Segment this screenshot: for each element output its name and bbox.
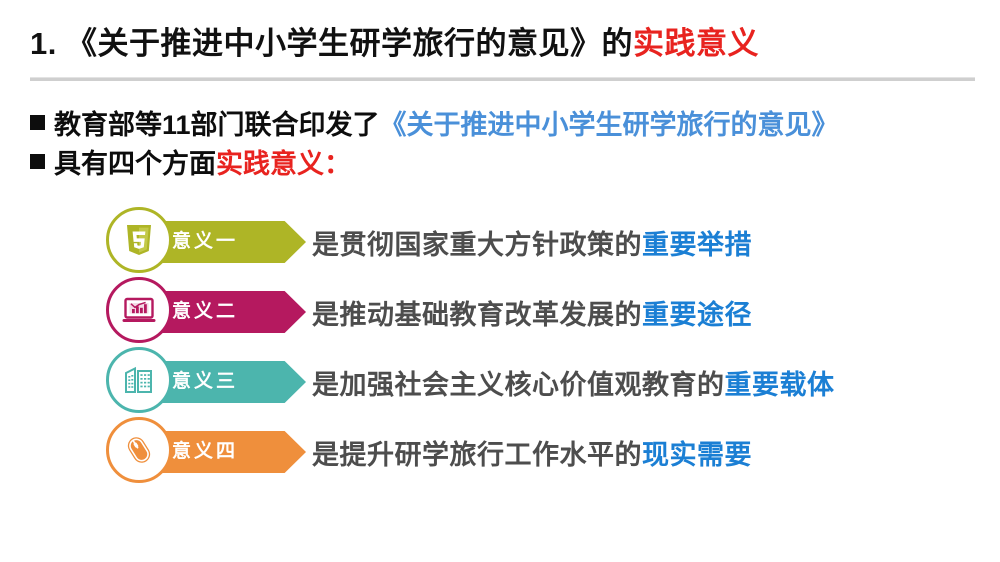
bullet-text-emphasis: 《关于推进中小学生研学旅行的意见》 [380,103,839,142]
list-item[interactable]: 意义二 是推动基础教育改革发展的重要途径 [106,277,835,347]
bullet-item: 具有四个方面实践意义： [30,142,980,181]
page-title: 1. 《关于推进中小学生研学旅行的意见》的实践意义 [30,18,975,63]
chevron-badge-group: 意义一 [106,207,306,277]
chevron-label: 意义二 [172,291,238,333]
list-item-text-plain: 是推动基础教育改革发展的 [312,300,642,330]
icon-badge [106,277,172,343]
list-item[interactable]: 意义四 是提升研学旅行工作水平的现实需要 [106,417,835,487]
list-item-text-highlight: 重要举措 [642,230,752,260]
chevron-badge-group: 意义三 [106,347,306,417]
list-item-text-highlight: 现实需要 [642,440,752,470]
list-item-text-highlight: 重要途径 [642,300,752,330]
list-item-text-plain: 是提升研学旅行工作水平的 [312,440,642,470]
list-item-text: 是推动基础教育改革发展的重要途径 [312,293,752,332]
slide-canvas: 1. 《关于推进中小学生研学旅行的意见》的实践意义 教育部等11部门联合印发了《… [0,0,1000,562]
chevron-label: 意义三 [172,361,238,403]
laptop-chart-icon [119,290,159,330]
title-main: 《关于推进中小学生研学旅行的意见》的 [66,26,633,61]
bullet-list: 教育部等11部门联合印发了《关于推进中小学生研学旅行的意见》 具有四个方面实践意… [30,103,980,181]
list-item-text: 是加强社会主义核心价值观教育的重要载体 [312,363,835,402]
bullet-item: 教育部等11部门联合印发了《关于推进中小学生研学旅行的意见》 [30,103,980,142]
buildings-icon [119,360,159,400]
html5-shield-icon [119,220,159,260]
title-number: 1. [30,26,57,61]
icon-badge [106,207,172,273]
icon-badge [106,417,172,483]
bullet-text-plain: 教育部等11部门联合印发了 [54,103,380,142]
bullet-text-plain: 具有四个方面 [54,142,216,181]
title-accent: 实践意义 [633,26,759,61]
chevron-badge-group: 意义二 [106,277,306,347]
list-item-text: 是贯彻国家重大方针政策的重要举措 [312,223,752,262]
icon-badge [106,347,172,413]
list-item-text-plain: 是贯彻国家重大方针政策的 [312,230,642,260]
square-bullet-icon [30,115,45,130]
computer-mouse-icon [119,430,159,470]
significance-list: 意义一 是贯彻国家重大方针政策的重要举措 意义二 [106,207,835,487]
list-item[interactable]: 意义三 [106,347,835,417]
bullet-text-emphasis: 实践意义： [216,142,351,181]
square-bullet-icon [30,154,45,169]
list-item-text-plain: 是加强社会主义核心价值观教育的 [312,370,725,400]
list-item-text-highlight: 重要载体 [725,370,835,400]
chevron-label: 意义四 [172,431,238,473]
list-item-text: 是提升研学旅行工作水平的现实需要 [312,433,752,472]
list-item[interactable]: 意义一 是贯彻国家重大方针政策的重要举措 [106,207,835,277]
chevron-badge-group: 意义四 [106,417,306,487]
chevron-label: 意义一 [172,221,238,263]
title-divider [30,77,975,81]
